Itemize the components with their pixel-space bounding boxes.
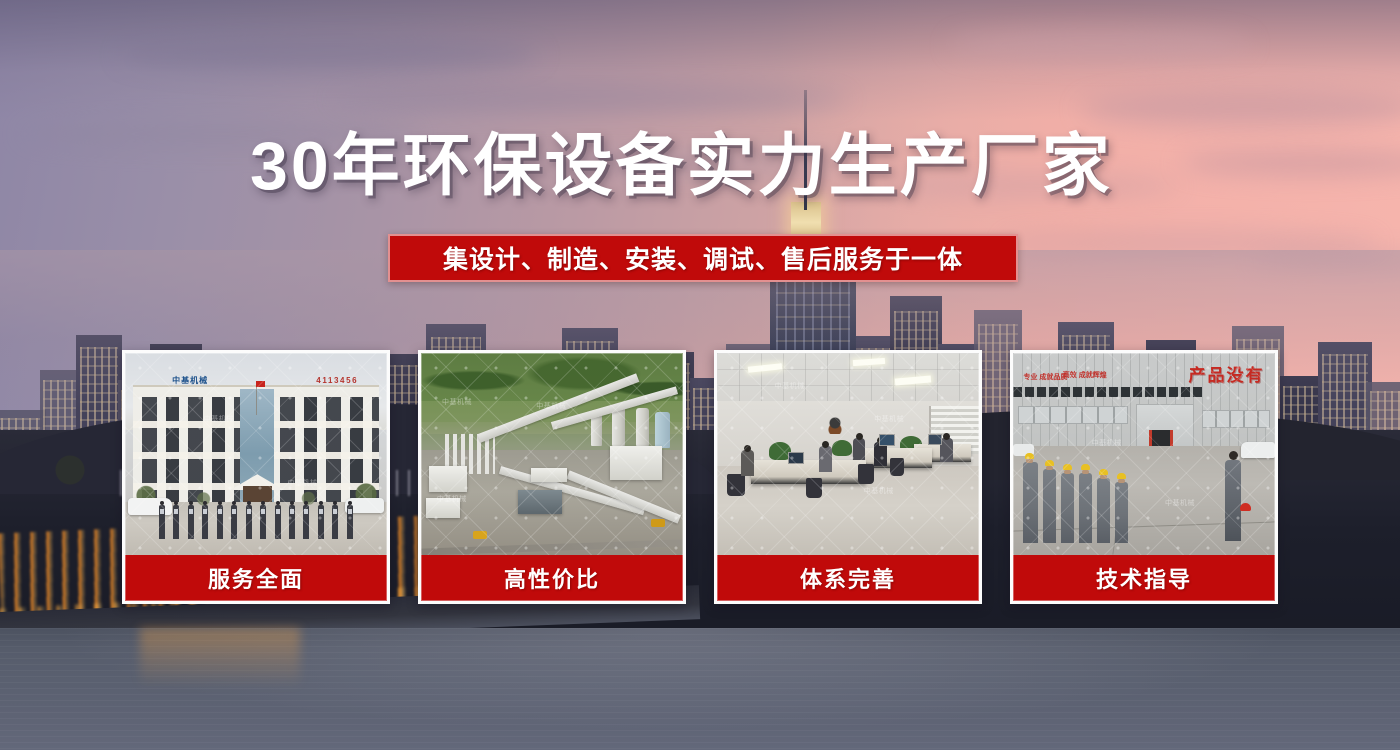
office-worker: [853, 438, 865, 460]
yellow-loader: [651, 519, 665, 527]
card-caption: 服务全面: [125, 555, 387, 601]
feature-card[interactable]: 产品没有 专业 成就品质 高效 成就辉煌: [1010, 350, 1278, 604]
potted-plant: [832, 440, 852, 456]
feature-card-row: 中基机械 4113456 中基机械 中基机械 服务全面: [122, 350, 1280, 604]
staff-member: [275, 505, 281, 539]
staff-member: [289, 505, 295, 539]
worker-with-hardhat: [1043, 469, 1056, 543]
wall-slogan-left: 专业 成就品质: [1023, 373, 1067, 383]
staff-member: [231, 505, 237, 539]
national-flag: [256, 381, 265, 387]
office-ceiling: [717, 353, 979, 406]
storage-silo: [636, 408, 649, 446]
company-headquarters-photo: 中基机械 4113456 中基机械 中基机械: [125, 353, 387, 555]
office-worker: [819, 446, 832, 472]
building-phone-number: 4113456: [316, 376, 358, 385]
supervisor: [1225, 460, 1241, 541]
factory-window: [1018, 406, 1128, 424]
office-chair: [727, 474, 745, 496]
computer-monitor: [879, 434, 895, 446]
feature-card[interactable]: 中基机械 4113456 中基机械 中基机械 服务全面: [122, 350, 390, 604]
plant-building: [610, 446, 662, 480]
staff-member: [188, 505, 194, 539]
subtitle-text: 集设计、制造、安装、调试、售后服务于一体: [443, 240, 963, 276]
water-light-reflection: [140, 628, 300, 688]
cloud-wisp: [120, 38, 540, 72]
office-chair: [858, 464, 874, 484]
plant-building: [429, 466, 467, 492]
worker-with-hardhat: [1097, 478, 1110, 543]
feature-card[interactable]: 中基机械 中基机械 中基机械 高性价比: [418, 350, 686, 604]
cloud-wisp: [950, 30, 1250, 60]
worker-with-hardhat: [1079, 473, 1092, 542]
staff-member: [202, 505, 208, 539]
wall-slogan-main: 产品没有: [1189, 361, 1265, 386]
computer-monitor: [788, 452, 804, 464]
staff-member: [217, 505, 223, 539]
card-caption: 体系完善: [717, 555, 979, 601]
parked-car: [1241, 442, 1275, 458]
staff-member: [246, 505, 252, 539]
staff-member: [318, 505, 324, 539]
production-plant-aerial-photo: 中基机械 中基机械 中基机械: [421, 353, 683, 555]
wall-emblem: [824, 412, 846, 434]
office-chair: [890, 458, 904, 476]
headline-text: 30年环保设备实力生产厂家: [250, 128, 1170, 204]
plant-building: [531, 468, 567, 482]
staff-member: [332, 505, 338, 539]
staff-member: [173, 505, 179, 539]
worker-lineup: [1023, 462, 1164, 543]
worker-with-hardhat: [1115, 482, 1128, 543]
office-interior-photo: 中基机械 中基机械 中基机械: [717, 353, 979, 555]
staff-member: [260, 505, 266, 539]
worker-with-hardhat: [1023, 462, 1038, 543]
plant-building: [426, 498, 460, 518]
cloud-wisp: [1080, 90, 1400, 128]
wall-slogan-right: 高效 成就辉煌: [1063, 371, 1107, 381]
staff-member: [303, 505, 309, 539]
feature-card[interactable]: 中基机械 中基机械 中基机械 体系完善: [714, 350, 982, 604]
office-chair: [806, 478, 822, 498]
plant-building: [518, 490, 562, 514]
technical-training-photo: 产品没有 专业 成就品质 高效 成就辉煌: [1013, 353, 1275, 555]
factory-window-strip: [1013, 387, 1202, 397]
promotional-banner: 30年环保设备实力生产厂家 集设计、制造、安装、调试、售后服务于一体 中基机械 …: [0, 0, 1400, 750]
worker-with-hardhat: [1061, 473, 1074, 542]
storage-silo: [655, 412, 670, 448]
factory-window: [1202, 410, 1270, 428]
yellow-loader: [473, 531, 487, 539]
computer-monitor: [928, 434, 942, 445]
card-caption: 高性价比: [421, 555, 683, 601]
office-worker: [741, 450, 754, 476]
staff-member: [347, 505, 353, 539]
card-caption: 技术指导: [1013, 555, 1275, 601]
building-sign-text: 中基机械: [172, 375, 208, 386]
cloud-wisp: [330, 86, 850, 112]
subtitle-banner: 集设计、制造、安装、调试、售后服务于一体: [388, 234, 1018, 282]
staff-lineup: [159, 505, 353, 539]
staff-member: [159, 505, 165, 539]
